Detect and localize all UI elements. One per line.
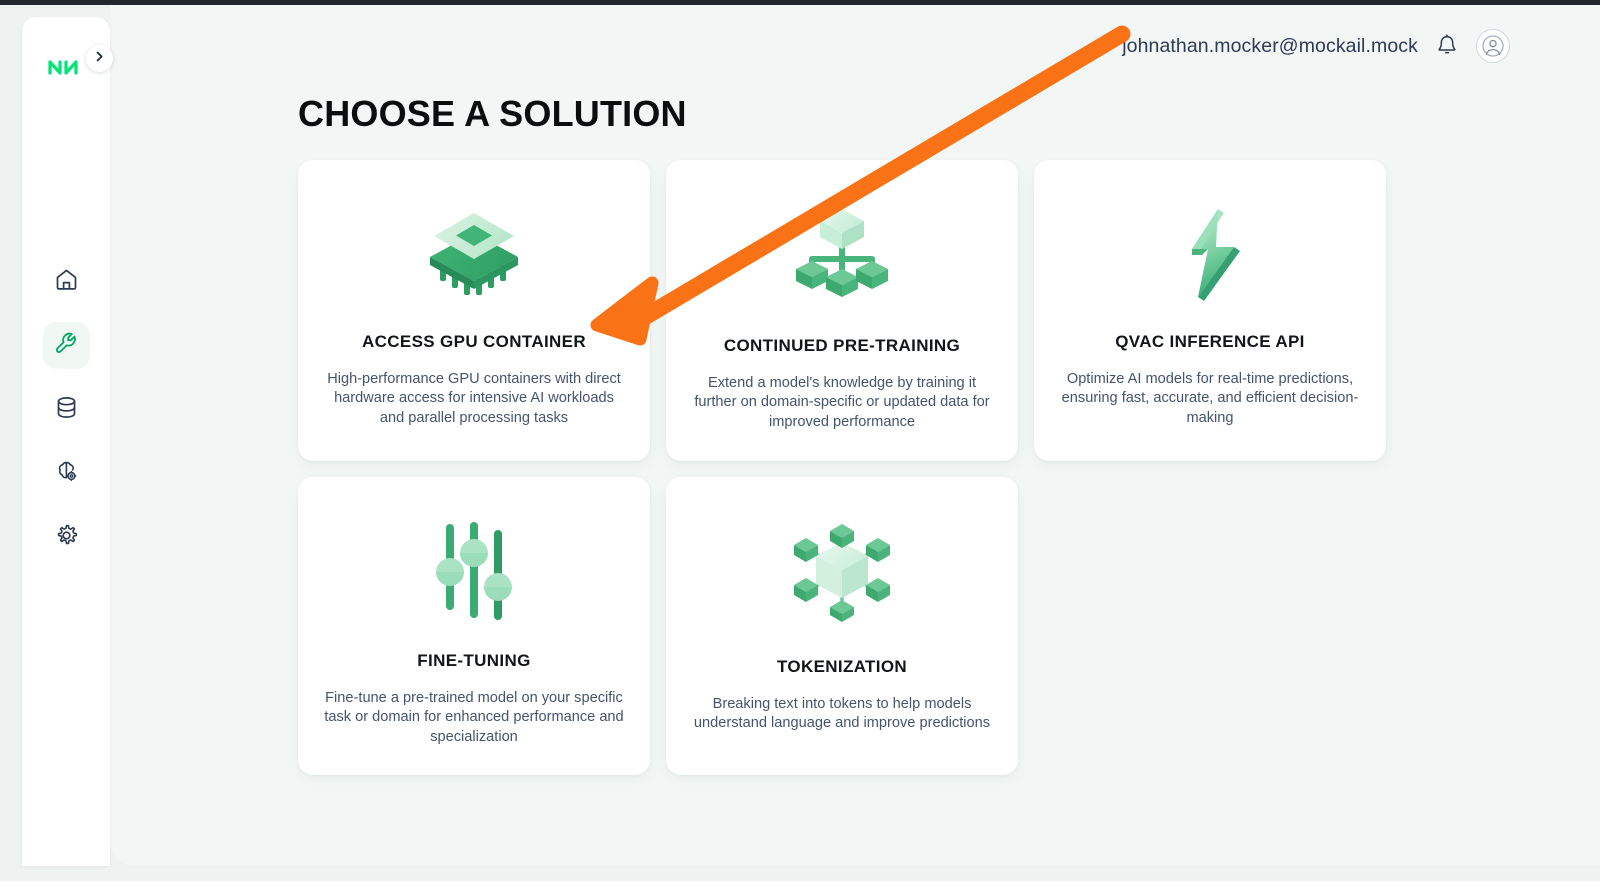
- infinity-logo-icon[interactable]: [44, 53, 88, 81]
- card-title: TOKENIZATION: [777, 657, 907, 677]
- user-avatar-icon: [1482, 35, 1504, 57]
- sidebar: [22, 17, 110, 866]
- sidebar-item-models[interactable]: [43, 450, 90, 497]
- wrench-icon: [54, 331, 79, 361]
- solution-card-tokenization[interactable]: TOKENIZATION Breaking text into tokens t…: [666, 477, 1018, 775]
- top-header: johnathan.mocker@mockail.mock: [1122, 29, 1510, 63]
- card-description: Optimize AI models for real-time predict…: [1060, 370, 1360, 428]
- lightning-bolt-icon: [1151, 194, 1269, 312]
- home-icon: [54, 267, 79, 297]
- main-panel: johnathan.mocker@mockail.mock CHOOSE A S…: [110, 5, 1600, 865]
- sidebar-expand-button[interactable]: [86, 45, 113, 72]
- page-title: CHOOSE A SOLUTION: [298, 93, 687, 135]
- sidebar-item-solutions[interactable]: [43, 322, 90, 369]
- sidebar-item-storage[interactable]: [43, 386, 90, 433]
- bell-icon[interactable]: [1434, 33, 1460, 59]
- card-description: Extend a model's knowledge by training i…: [692, 374, 992, 432]
- sidebar-item-home[interactable]: [43, 258, 90, 305]
- chevron-right-icon: [93, 50, 106, 68]
- card-title: FINE-TUNING: [417, 651, 530, 671]
- card-title: ACCESS GPU CONTAINER: [362, 332, 586, 352]
- sidebar-nav: [22, 258, 110, 561]
- solution-card-qvac-inference-api[interactable]: QVAC INFERENCE API Optimize AI models fo…: [1034, 160, 1386, 461]
- card-description: High-performance GPU containers with dir…: [324, 370, 624, 428]
- solution-card-access-gpu-container[interactable]: ACCESS GPU CONTAINER High-performance GP…: [298, 160, 650, 461]
- app-root: johnathan.mocker@mockail.mock CHOOSE A S…: [0, 0, 1600, 886]
- gpu-chip-icon: [415, 194, 533, 312]
- sidebar-item-settings[interactable]: [43, 514, 90, 561]
- avatar[interactable]: [1476, 29, 1510, 63]
- card-title: QVAC INFERENCE API: [1115, 332, 1305, 352]
- card-title: CONTINUED PRE-TRAINING: [724, 336, 960, 356]
- solution-card-continued-pre-training[interactable]: CONTINUED PRE-TRAINING Extend a model's …: [666, 160, 1018, 461]
- sliders-icon: [415, 513, 533, 631]
- token-cluster-icon: [783, 513, 901, 631]
- hierarchy-nodes-icon: [783, 194, 901, 312]
- card-description: Breaking text into tokens to help models…: [692, 695, 992, 734]
- brain-gear-icon: [54, 459, 79, 489]
- user-email-label: johnathan.mocker@mockail.mock: [1122, 35, 1418, 58]
- solution-card-grid: ACCESS GPU CONTAINER High-performance GP…: [298, 160, 1388, 775]
- database-icon: [54, 395, 79, 425]
- solution-card-fine-tuning[interactable]: FINE-TUNING Fine-tune a pre-trained mode…: [298, 477, 650, 775]
- gear-icon: [54, 523, 79, 553]
- card-description: Fine-tune a pre-trained model on your sp…: [324, 689, 624, 747]
